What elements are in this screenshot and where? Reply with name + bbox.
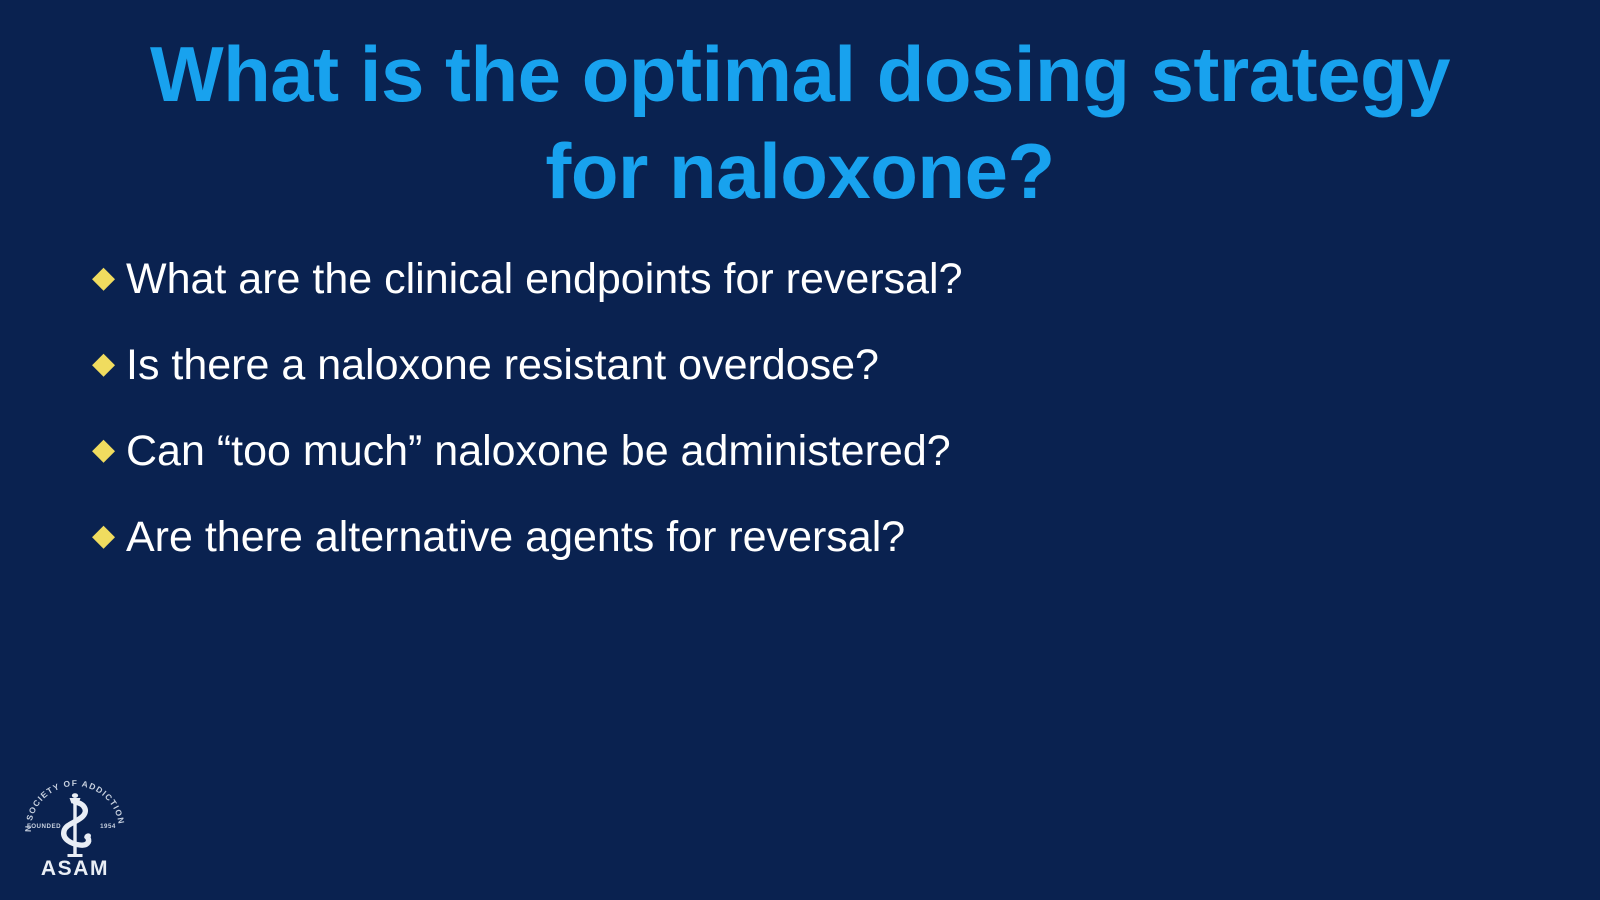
bullet-text-2: Is there a naloxone resistant overdose? bbox=[126, 339, 879, 391]
asam-logo: AMERICAN SOCIETY OF ADDICTION MEDICINE F… bbox=[14, 762, 136, 884]
bullet-list: ◆ What are the clinical endpoints for re… bbox=[92, 236, 1512, 580]
asam-founded-label: FOUNDED bbox=[27, 823, 61, 830]
rod-of-asclepius-icon bbox=[64, 793, 92, 857]
list-item: ◆ Are there alternative agents for rever… bbox=[92, 494, 1512, 580]
diamond-bullet-icon: ◆ bbox=[92, 435, 126, 465]
list-item: ◆ Can “too much” naloxone be administere… bbox=[92, 408, 1512, 494]
diamond-bullet-icon: ◆ bbox=[92, 521, 126, 551]
title-line-1: What is the optimal dosing strategy bbox=[120, 26, 1480, 123]
bullet-text-3: Can “too much” naloxone be administered? bbox=[126, 425, 951, 477]
title-line-2: for naloxone? bbox=[120, 123, 1480, 220]
asam-wordmark: ASAM bbox=[41, 857, 109, 880]
bullet-text-1: What are the clinical endpoints for reve… bbox=[126, 253, 963, 305]
slide-title: What is the optimal dosing strategy for … bbox=[120, 26, 1480, 220]
diamond-bullet-icon: ◆ bbox=[92, 263, 126, 293]
diamond-bullet-icon: ◆ bbox=[92, 349, 126, 379]
list-item: ◆ What are the clinical endpoints for re… bbox=[92, 236, 1512, 322]
asam-logo-graphic: AMERICAN SOCIETY OF ADDICTION MEDICINE F… bbox=[14, 762, 136, 884]
slide-canvas: What is the optimal dosing strategy for … bbox=[0, 0, 1600, 900]
list-item: ◆ Is there a naloxone resistant overdose… bbox=[92, 322, 1512, 408]
bullet-text-4: Are there alternative agents for reversa… bbox=[126, 511, 905, 563]
asam-founded-year: 1954 bbox=[100, 823, 116, 830]
